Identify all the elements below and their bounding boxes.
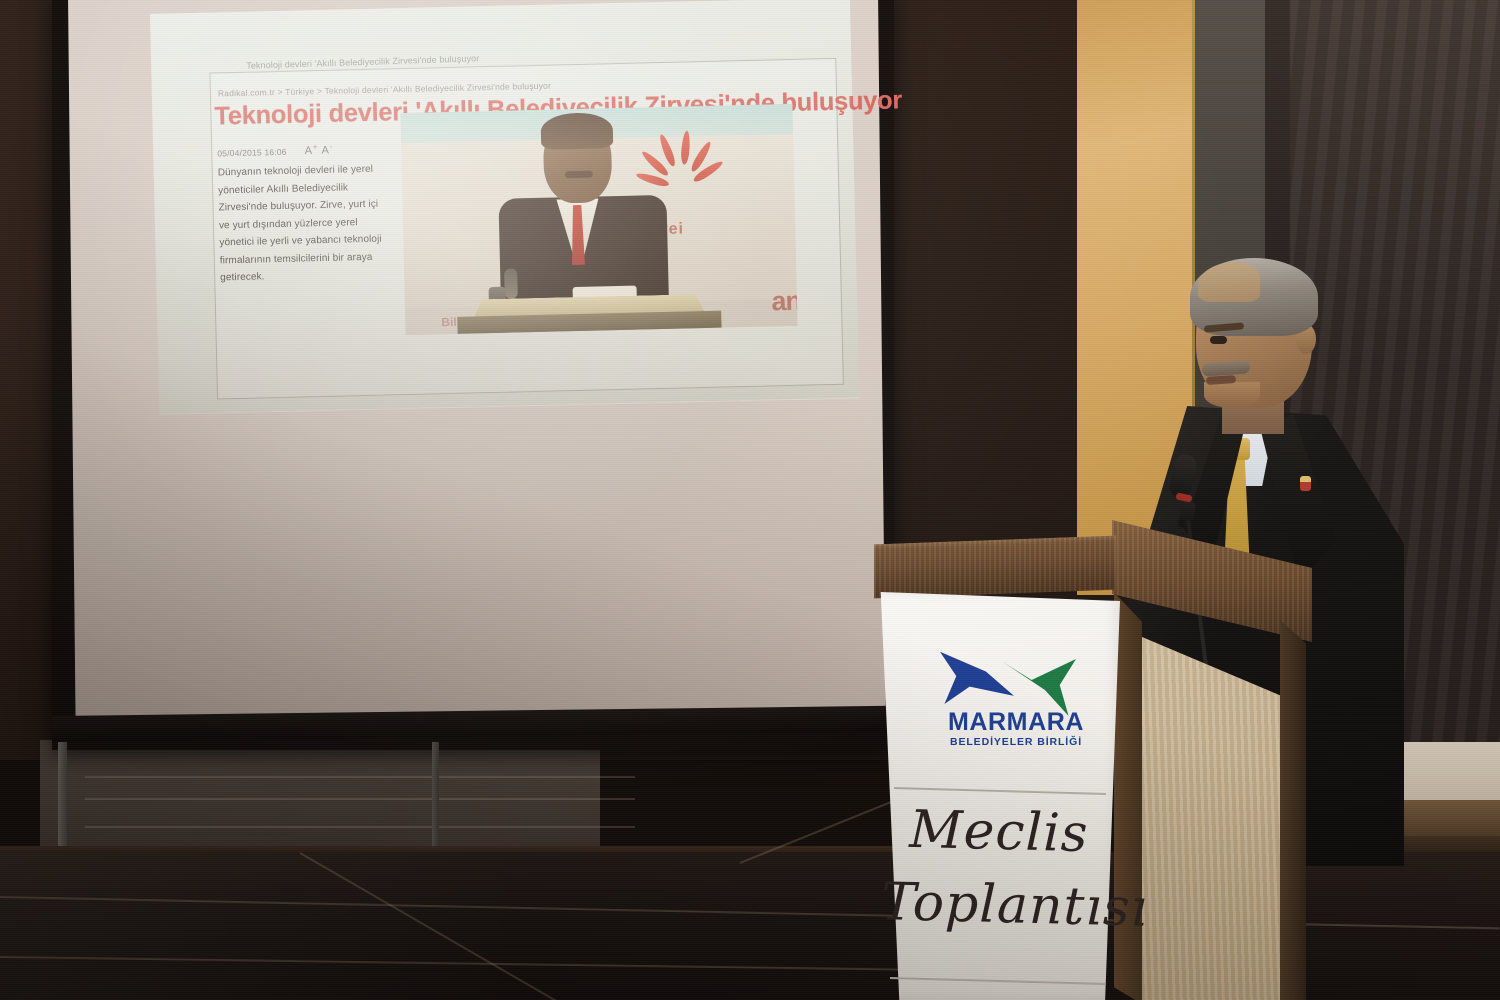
article-timestamp: 05/04/2015 16:06 (217, 146, 287, 158)
speaker-lapel-pin (1300, 476, 1311, 491)
font-size-controls: A+ A- (304, 144, 333, 157)
news-photo-sponsor-text-2: Bil (441, 315, 457, 329)
event-title-line-1: Meclis (882, 793, 1116, 871)
screen-stand-left (58, 742, 67, 860)
news-photo-sponsor-text: an (771, 286, 797, 318)
font-decrease-button[interactable]: A (321, 144, 330, 156)
logo-organization-name: MARMARA (942, 708, 1090, 737)
logo-green-wing-icon (1002, 654, 1076, 716)
screen-stand-right (432, 742, 439, 860)
photo-scene: Teknoloji devleri 'Akıllı Belediyecilik … (0, 0, 1500, 1000)
event-title-script: Meclis Toplantısı (880, 793, 1115, 945)
logo-organization-subtitle: BELEDİYELER BİRLİĞİ (942, 736, 1090, 748)
lectern-side-panel (1138, 594, 1284, 1000)
logo-blue-wing-icon (940, 646, 1014, 704)
event-title-line-2: Toplantısı (880, 865, 1114, 945)
article-lede: Dünyanın teknoloji devleri ile yerel yön… (218, 161, 387, 287)
lectern-top-front (874, 536, 1116, 599)
projected-slide: Teknoloji devleri 'Akıllı Belediyecilik … (150, 0, 859, 414)
marmara-logo: MARMARA BELEDİYELER BİRLİĞİ (940, 638, 1090, 758)
lectern: MARMARA BELEDİYELER BİRLİĞİ Meclis Topla… (862, 528, 1342, 1000)
article-photo: wei an Bil (400, 104, 797, 335)
font-increase-button[interactable]: A (305, 145, 314, 157)
